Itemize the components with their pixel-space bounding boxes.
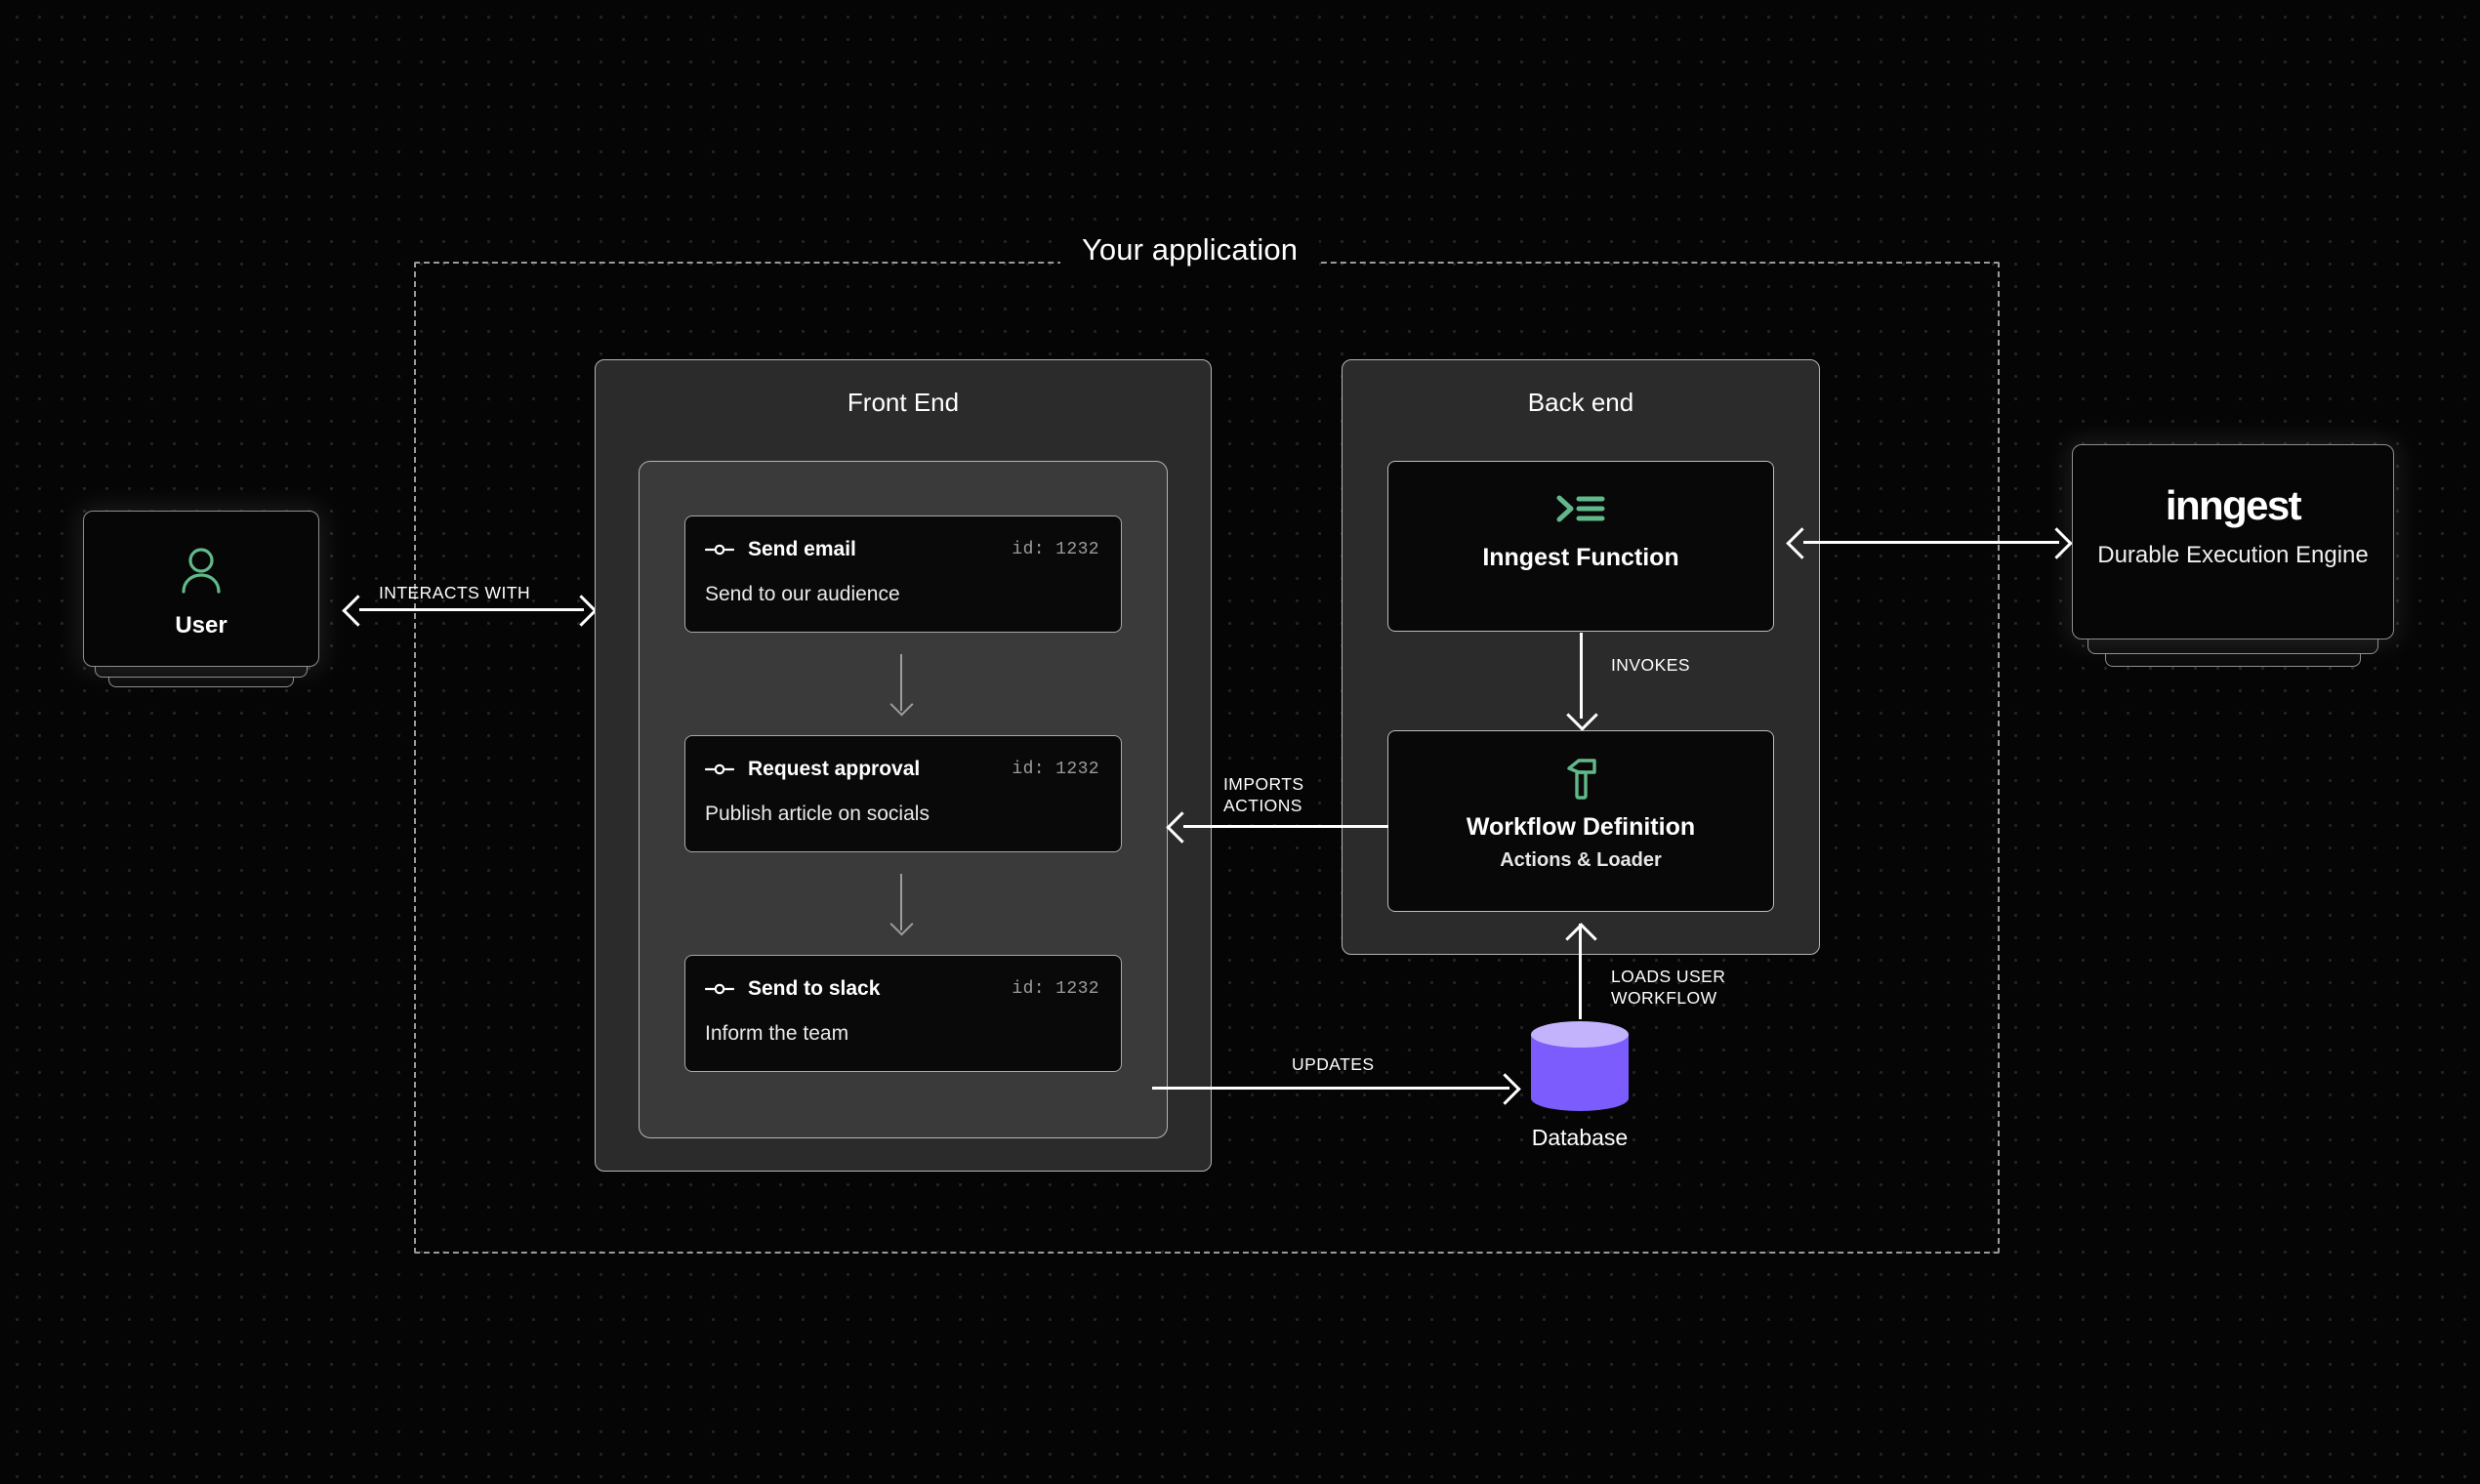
- edge-label-loads-user-workflow: LOADS USER WORKFLOW: [1611, 967, 1725, 1010]
- edge-user-frontend-line: [359, 608, 584, 611]
- user-icon: [84, 544, 318, 598]
- workflow-step-id: id: 1232: [1012, 979, 1099, 999]
- edge-user-frontend-arrowhead-left: [342, 595, 374, 627]
- workflow-step-description: Send to our audience: [705, 583, 900, 606]
- edge-imports-actions-line: [1183, 825, 1388, 828]
- database-cylinder-icon: [1531, 1021, 1629, 1111]
- workflow-step-header: Send email id: 1232: [685, 538, 1121, 561]
- inngest-function-node[interactable]: Inngest Function: [1387, 461, 1774, 632]
- node-connector-icon: [705, 981, 734, 997]
- workflow-step-title: Send to slack: [748, 977, 880, 1001]
- user-label: User: [84, 612, 318, 639]
- edge-backend-inngest-arrowhead-right: [2041, 527, 2073, 559]
- workflow-definition-node[interactable]: Workflow Definition Actions & Loader: [1387, 730, 1774, 912]
- user-device-screen: User: [83, 511, 319, 667]
- workflow-step-card[interactable]: Send to slack id: 1232 Inform the team: [684, 955, 1122, 1072]
- database-label: Database: [1531, 1125, 1629, 1151]
- edge-label-invokes: INVOKES: [1611, 655, 1690, 677]
- workflow-definition-subtitle: Actions & Loader: [1388, 849, 1773, 872]
- edge-backend-inngest-line: [1803, 541, 2059, 544]
- edge-updates-line: [1152, 1087, 1509, 1090]
- inngest-node[interactable]: inngest Durable Execution Engine: [2072, 444, 2394, 639]
- diagram-canvas: Your application User INTERACTS WITH Fro…: [0, 0, 2480, 1484]
- node-connector-icon: [705, 542, 734, 557]
- inngest-device-screen: inngest Durable Execution Engine: [2072, 444, 2394, 639]
- workflow-step-card[interactable]: Request approval id: 1232 Publish articl…: [684, 735, 1122, 852]
- application-boundary-title: Your application: [1060, 232, 1319, 268]
- edge-label-updates: UPDATES: [1292, 1054, 1375, 1076]
- workflow-step-header: Send to slack id: 1232: [685, 977, 1121, 1001]
- edge-label-interacts-with: INTERACTS WITH: [379, 583, 530, 604]
- inngest-subtitle: Durable Execution Engine: [2073, 541, 2393, 569]
- edge-label-imports-actions: IMPORTS ACTIONS: [1223, 774, 1304, 817]
- database-node[interactable]: Database: [1531, 1021, 1629, 1151]
- workflow-step-id: id: 1232: [1012, 540, 1099, 559]
- workflow-step-header: Request approval id: 1232: [685, 758, 1121, 781]
- workflow-step-id: id: 1232: [1012, 760, 1099, 779]
- workflow-step-connector: [900, 874, 902, 930]
- database-cylinder-top: [1531, 1021, 1629, 1048]
- workflow-step-description: Inform the team: [705, 1022, 848, 1046]
- workflow-step-title: Send email: [748, 538, 856, 561]
- inngest-function-title: Inngest Function: [1388, 544, 1773, 572]
- backend-title: Back end: [1343, 388, 1819, 418]
- terminal-icon: [1388, 487, 1773, 532]
- workflow-definition-title: Workflow Definition: [1388, 813, 1773, 842]
- user-node[interactable]: User: [83, 511, 319, 667]
- workflow-step-title: Request approval: [748, 758, 920, 781]
- workflow-step-description: Publish article on socials: [705, 803, 930, 826]
- inngest-logo: inngest: [2073, 482, 2393, 529]
- workflow-step-connector: [900, 654, 902, 711]
- node-connector-icon: [705, 762, 734, 777]
- workflow-step-card[interactable]: Send email id: 1232 Send to our audience: [684, 515, 1122, 633]
- frontend-title: Front End: [596, 388, 1211, 418]
- hammer-icon: [1388, 757, 1773, 802]
